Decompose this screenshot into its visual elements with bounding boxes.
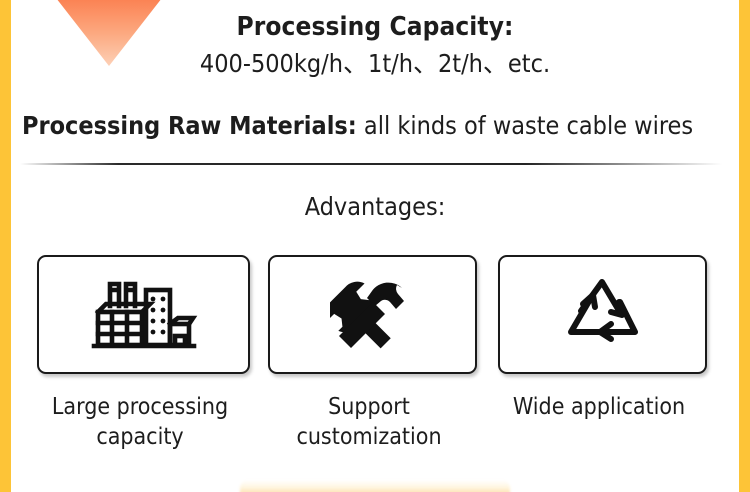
advantage-caption-1: Large processing capacity — [22, 392, 258, 452]
advantages-title: Advantages: — [0, 191, 750, 223]
advantages-card-row — [37, 255, 707, 375]
section-divider — [20, 163, 722, 165]
factory-icon — [90, 276, 198, 354]
advantage-card-support-customization[interactable] — [268, 255, 477, 374]
processing-capacity-value: 400-500kg/h、1t/h、2t/h、etc. — [0, 47, 750, 81]
processing-capacity-title: Processing Capacity: — [0, 10, 750, 44]
processing-raw-materials-value: all kinds of waste cable wires — [357, 111, 693, 140]
processing-capacity-block: Processing Capacity: 400-500kg/h、1t/h、2t… — [0, 10, 750, 81]
tools-icon — [330, 274, 416, 356]
processing-raw-materials-row: Processing Raw Materials: all kinds of w… — [22, 109, 732, 143]
advantage-caption-2: Support customization — [256, 392, 482, 452]
processing-raw-materials-label: Processing Raw Materials: — [22, 111, 357, 140]
product-spec-panel: Processing Capacity: 400-500kg/h、1t/h、2t… — [0, 0, 750, 492]
advantage-card-large-processing-capacity[interactable] — [37, 255, 250, 374]
recycling-icon — [559, 274, 647, 356]
bottom-glow-decoration — [240, 480, 510, 492]
advantage-card-wide-application[interactable] — [498, 255, 707, 374]
advantage-caption-3: Wide application — [488, 392, 710, 422]
